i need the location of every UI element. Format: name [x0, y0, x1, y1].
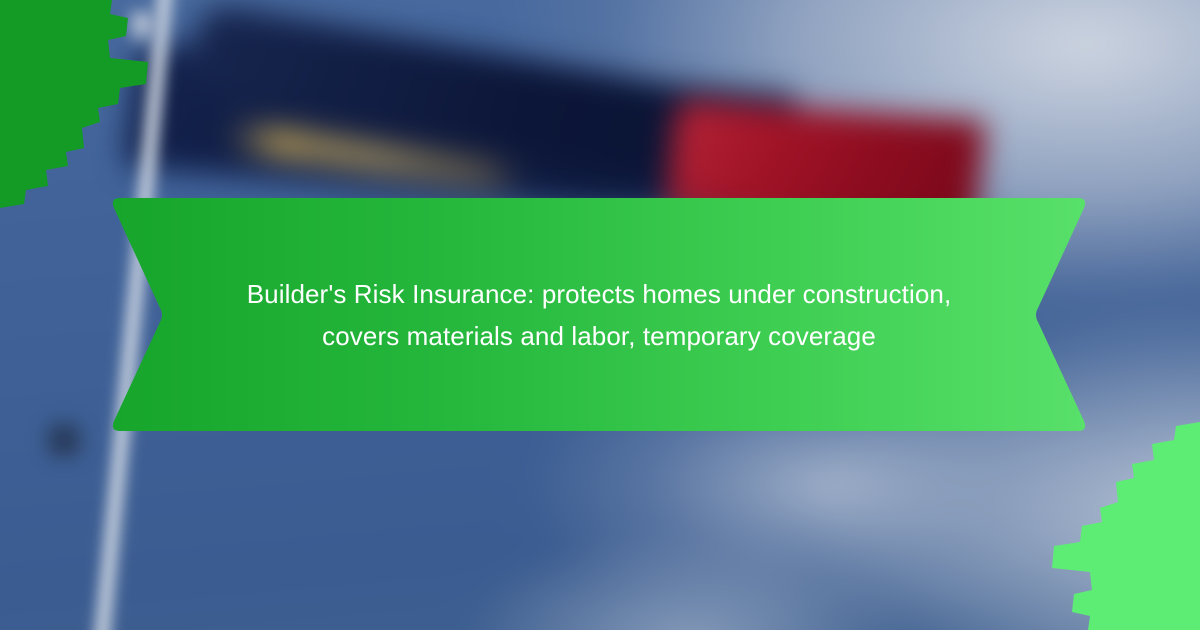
flag-cloth: [130, 40, 890, 215]
ribbon-text-line-2: covers materials and labor, temporary co…: [322, 315, 876, 357]
ribbon-text-line-1: Builder's Risk Insurance: protects homes…: [247, 273, 952, 315]
banner-canvas: Builder's Risk Insurance: protects homes…: [0, 0, 1200, 630]
ribbon-banner: Builder's Risk Insurance: protects homes…: [108, 196, 1090, 433]
flagpole-finial: [128, 10, 158, 44]
ribbon-text-block: Builder's Risk Insurance: protects homes…: [108, 196, 1090, 433]
flagpole-cleat: [42, 418, 86, 462]
